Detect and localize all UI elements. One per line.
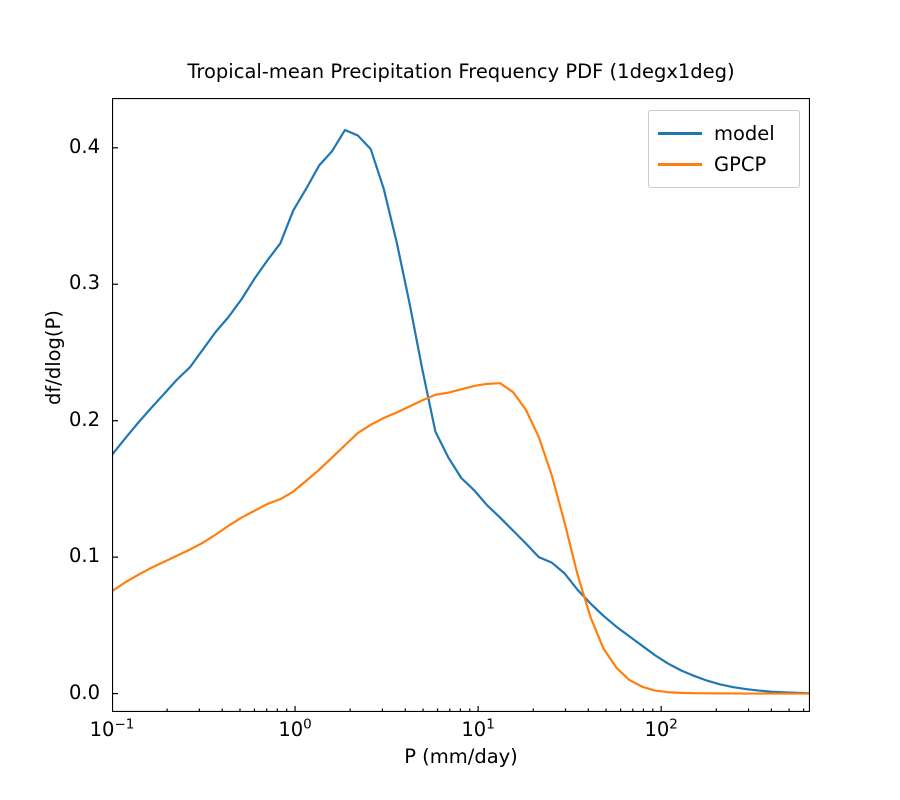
x-tick-label: 101 [461, 718, 494, 741]
legend-item-gpcp[interactable]: GPCP [658, 149, 790, 180]
x-axis-label: P (mm/day) [112, 745, 810, 768]
chart-title: Tropical-mean Precipitation Frequency PD… [112, 60, 810, 83]
legend-label-model: model [714, 122, 775, 145]
legend-item-model[interactable]: model [658, 118, 790, 149]
series-line-model [112, 130, 810, 693]
x-tick-label: 100 [278, 718, 311, 741]
y-tick-label: 0.1 [69, 544, 100, 567]
y-tick-label: 0.4 [69, 135, 100, 158]
data-series-group [112, 130, 810, 694]
y-tick-label: 0.0 [69, 681, 100, 704]
series-line-gpcp [112, 383, 810, 693]
plot-svg [112, 98, 810, 712]
legend-label-gpcp: GPCP [714, 153, 766, 176]
legend-swatch-gpcp [658, 163, 702, 166]
x-tick-label: 10−1 [90, 718, 135, 741]
legend-swatch-model [658, 132, 702, 135]
figure-canvas: Tropical-mean Precipitation Frequency PD… [0, 0, 900, 800]
x-tick-label: 102 [644, 718, 677, 741]
legend: model GPCP [648, 110, 800, 188]
y-tick-label: 0.2 [69, 408, 100, 431]
y-axis-label: df/dlog(P) [42, 310, 65, 405]
axis-tick-marks [112, 148, 804, 712]
y-tick-label: 0.3 [69, 271, 100, 294]
plot-area [112, 98, 810, 712]
axes-frame [113, 99, 810, 712]
